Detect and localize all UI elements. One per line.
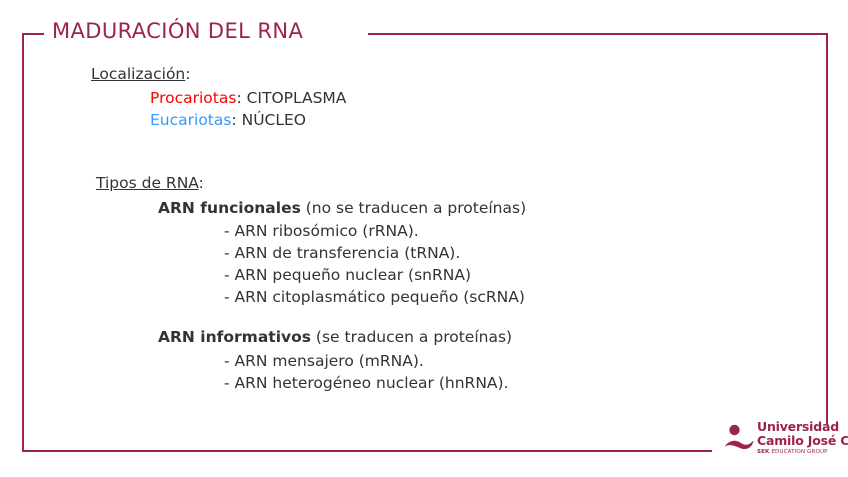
group-title-arn-funcionales: ARN funcionales (no se traducen a proteí… xyxy=(158,198,526,219)
heading-tipos-de-rna: Tipos de RNA: xyxy=(96,173,204,194)
group-name-arn-informativos: ARN informativos xyxy=(158,328,311,346)
frame-right-rule xyxy=(826,33,828,425)
group-name-arn-funcionales: ARN funcionales xyxy=(158,199,301,217)
list-item: - ARN ribosómico (rRNA). xyxy=(224,221,419,242)
frame-top-left-stub xyxy=(22,33,44,35)
heading-localizacion-label: Localización xyxy=(91,65,185,83)
row-eucariotas: Eucariotas: NÚCLEO xyxy=(150,110,306,131)
term-eucariotas: Eucariotas xyxy=(150,111,231,129)
heading-tipos-de-rna-label: Tipos de RNA xyxy=(96,174,199,192)
group-title-arn-informativos: ARN informativos (se traducen a proteína… xyxy=(158,327,512,348)
heading-localizacion: Localización: xyxy=(91,64,190,85)
ucjc-logo-mark-icon xyxy=(723,422,755,452)
value-procariotas: CITOPLASMA xyxy=(247,89,347,107)
value-eucariotas: NÚCLEO xyxy=(242,111,306,129)
ucjc-logo: Universidad Camilo José Cela SEK EDUCATI… xyxy=(723,420,841,460)
ucjc-logo-tagline-brand: SEK xyxy=(757,449,770,455)
group-note-arn-informativos: (se traducen a proteínas) xyxy=(311,328,512,346)
ucjc-logo-text: Universidad Camilo José Cela SEK EDUCATI… xyxy=(757,420,848,456)
ucjc-logo-tagline: SEK EDUCATION GROUP xyxy=(757,448,848,456)
ucjc-logo-line1: Universidad xyxy=(757,420,848,434)
term-procariotas: Procariotas xyxy=(150,89,236,107)
heading-localizacion-colon: : xyxy=(185,65,190,83)
ucjc-logo-tagline-rest: EDUCATION GROUP xyxy=(770,449,828,455)
row-procariotas: Procariotas: CITOPLASMA xyxy=(150,88,346,109)
list-item: - ARN de transferencia (tRNA). xyxy=(224,243,460,264)
frame-top-right-rule xyxy=(368,33,828,35)
sep-eucariotas: : xyxy=(231,111,241,129)
list-item: - ARN pequeño nuclear (snRNA) xyxy=(224,265,471,286)
list-item: - ARN mensajero (mRNA). xyxy=(224,351,424,372)
page-title: MADURACIÓN DEL RNA xyxy=(52,19,303,43)
heading-tipos-de-rna-colon: : xyxy=(199,174,204,192)
list-item: - ARN citoplasmático pequeño (scRNA) xyxy=(224,287,525,308)
list-item: - ARN heterogéneo nuclear (hnRNA). xyxy=(224,373,509,394)
frame-bottom-rule xyxy=(22,450,712,452)
ucjc-logo-line2: Camilo José Cela xyxy=(757,434,848,448)
slide: MADURACIÓN DEL RNA Localización: Procari… xyxy=(0,0,848,477)
frame-left-rule xyxy=(22,33,24,452)
sep-procariotas: : xyxy=(236,89,246,107)
group-note-arn-funcionales: (no se traducen a proteínas) xyxy=(301,199,526,217)
